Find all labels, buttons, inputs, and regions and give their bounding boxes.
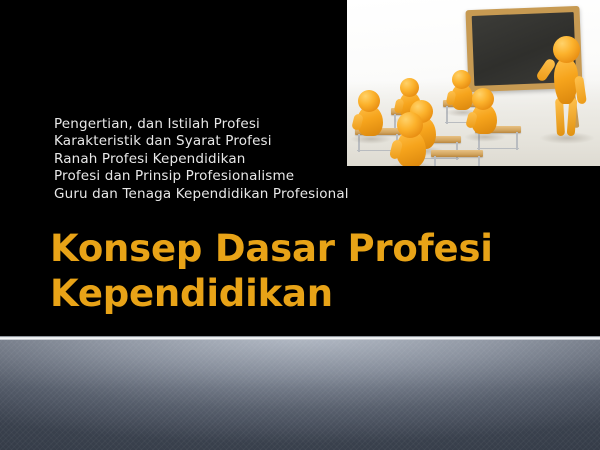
presentation-slide: Pengertian, dan Istilah Profesi Karakter… bbox=[0, 0, 600, 450]
subtitle-line: Guru dan Tenaga Kependidikan Profesional bbox=[54, 186, 454, 203]
subtitle-line: Profesi dan Prinsip Profesionalisme bbox=[54, 168, 454, 185]
student-figure bbox=[467, 88, 501, 138]
subtitle-line: Pengertian, dan Istilah Profesi bbox=[54, 116, 454, 133]
title-line: Konsep Dasar Profesi bbox=[50, 226, 570, 271]
slide-title: Konsep Dasar Profesi Kependidikan bbox=[50, 226, 570, 316]
footer-band-sheen bbox=[0, 340, 600, 450]
title-line: Kependidikan bbox=[50, 271, 570, 316]
subtitle-block: Pengertian, dan Istilah Profesi Karakter… bbox=[54, 116, 454, 203]
teacher-figure bbox=[543, 36, 589, 144]
subtitle-line: Ranah Profesi Kependidikan bbox=[54, 151, 454, 168]
footer-band bbox=[0, 340, 600, 450]
subtitle-line: Karakteristik dan Syarat Profesi bbox=[54, 133, 454, 150]
